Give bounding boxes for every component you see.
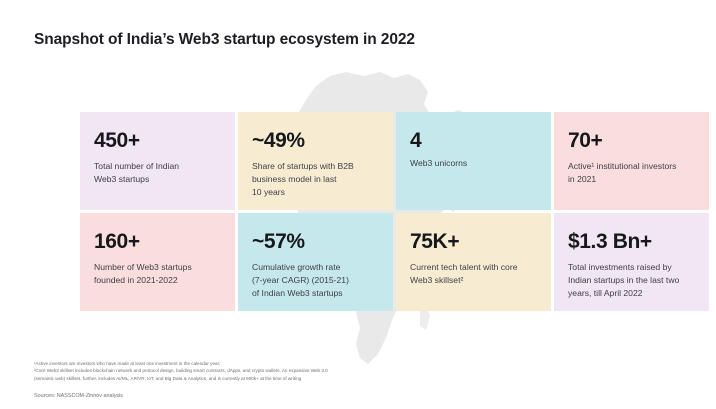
footnote-line: ¹Active investors are investors who have… xyxy=(34,360,594,367)
stat-description: Total number of Indian Web3 startups xyxy=(94,160,221,186)
page-title: Snapshot of India’s Web3 startup ecosyst… xyxy=(34,31,415,49)
stat-card-cagr: ~57% Cumulative growth rate (7-year CAGR… xyxy=(238,213,393,311)
stat-description-line: Current tech talent with core xyxy=(410,261,537,274)
stat-description-line: founded in 2021-2022 xyxy=(94,274,221,287)
footnote-line: ²Core Web3 skillset includes blockchain … xyxy=(34,367,594,374)
footnote-line: (semantic web) skillset, further, includ… xyxy=(34,375,594,382)
stat-description-line: Share of startups with B2B xyxy=(252,160,379,173)
stat-card-institutional-investors: 70+ Active¹ institutional investors in 2… xyxy=(554,112,709,210)
stats-grid: 450+ Total number of Indian Web3 startup… xyxy=(80,112,710,311)
stat-description-line: 10 years xyxy=(252,186,379,199)
stat-description-line: business model in last xyxy=(252,173,379,186)
stat-description: Number of Web3 startups founded in 2021-… xyxy=(94,261,221,287)
stat-description-line: Active¹ institutional investors xyxy=(568,160,695,173)
stat-description-line: in 2021 xyxy=(568,173,695,186)
stat-value: 160+ xyxy=(94,231,221,252)
infographic-page: Snapshot of India’s Web3 startup ecosyst… xyxy=(0,0,716,409)
stat-card-tech-talent: 75K+ Current tech talent with core Web3 … xyxy=(396,213,551,311)
stat-description-line: of Indian Web3 startups xyxy=(252,287,379,300)
stat-card-startups-founded: 160+ Number of Web3 startups founded in … xyxy=(80,213,235,311)
stat-value: 450+ xyxy=(94,130,221,151)
stat-value: 4 xyxy=(410,130,537,151)
stat-description-line: Web3 unicorns xyxy=(410,157,537,170)
stat-description-line: Total number of Indian xyxy=(94,160,221,173)
stat-description: Web3 unicorns xyxy=(410,157,537,170)
stat-description: Cumulative growth rate (7-year CAGR) (20… xyxy=(252,261,379,300)
stat-description: Share of startups with B2B business mode… xyxy=(252,160,379,199)
stat-value: ~49% xyxy=(252,130,379,151)
stat-description-line: Web3 startups xyxy=(94,173,221,186)
stat-value: $1.3 Bn+ xyxy=(568,231,695,252)
stat-description: Total investments raised by Indian start… xyxy=(568,261,695,300)
stat-description-line: Total investments raised by xyxy=(568,261,695,274)
stat-value: 75K+ xyxy=(410,231,537,252)
stat-description: Active¹ institutional investors in 2021 xyxy=(568,160,695,186)
stat-value: 70+ xyxy=(568,130,695,151)
stat-description-line: Web3 skillset² xyxy=(410,274,537,287)
stat-description-line: years, till April 2022 xyxy=(568,287,695,300)
stat-description-line: Number of Web3 startups xyxy=(94,261,221,274)
stat-card-total-investments: $1.3 Bn+ Total investments raised by Ind… xyxy=(554,213,709,311)
stat-description-line: Cumulative growth rate xyxy=(252,261,379,274)
stat-card-b2b-share: ~49% Share of startups with B2B business… xyxy=(238,112,393,210)
stat-description: Current tech talent with core Web3 skill… xyxy=(410,261,537,287)
stat-description-line: Indian startups in the last two xyxy=(568,274,695,287)
stat-value: ~57% xyxy=(252,231,379,252)
stat-description-line: (7-year CAGR) (2015-21) xyxy=(252,274,379,287)
sources-line: Sources: NASSCOM-Zinnov analysis xyxy=(34,393,123,399)
stat-card-unicorns: 4 Web3 unicorns xyxy=(396,112,551,210)
footnotes: ¹Active investors are investors who have… xyxy=(34,360,594,382)
stat-card-total-startups: 450+ Total number of Indian Web3 startup… xyxy=(80,112,235,210)
